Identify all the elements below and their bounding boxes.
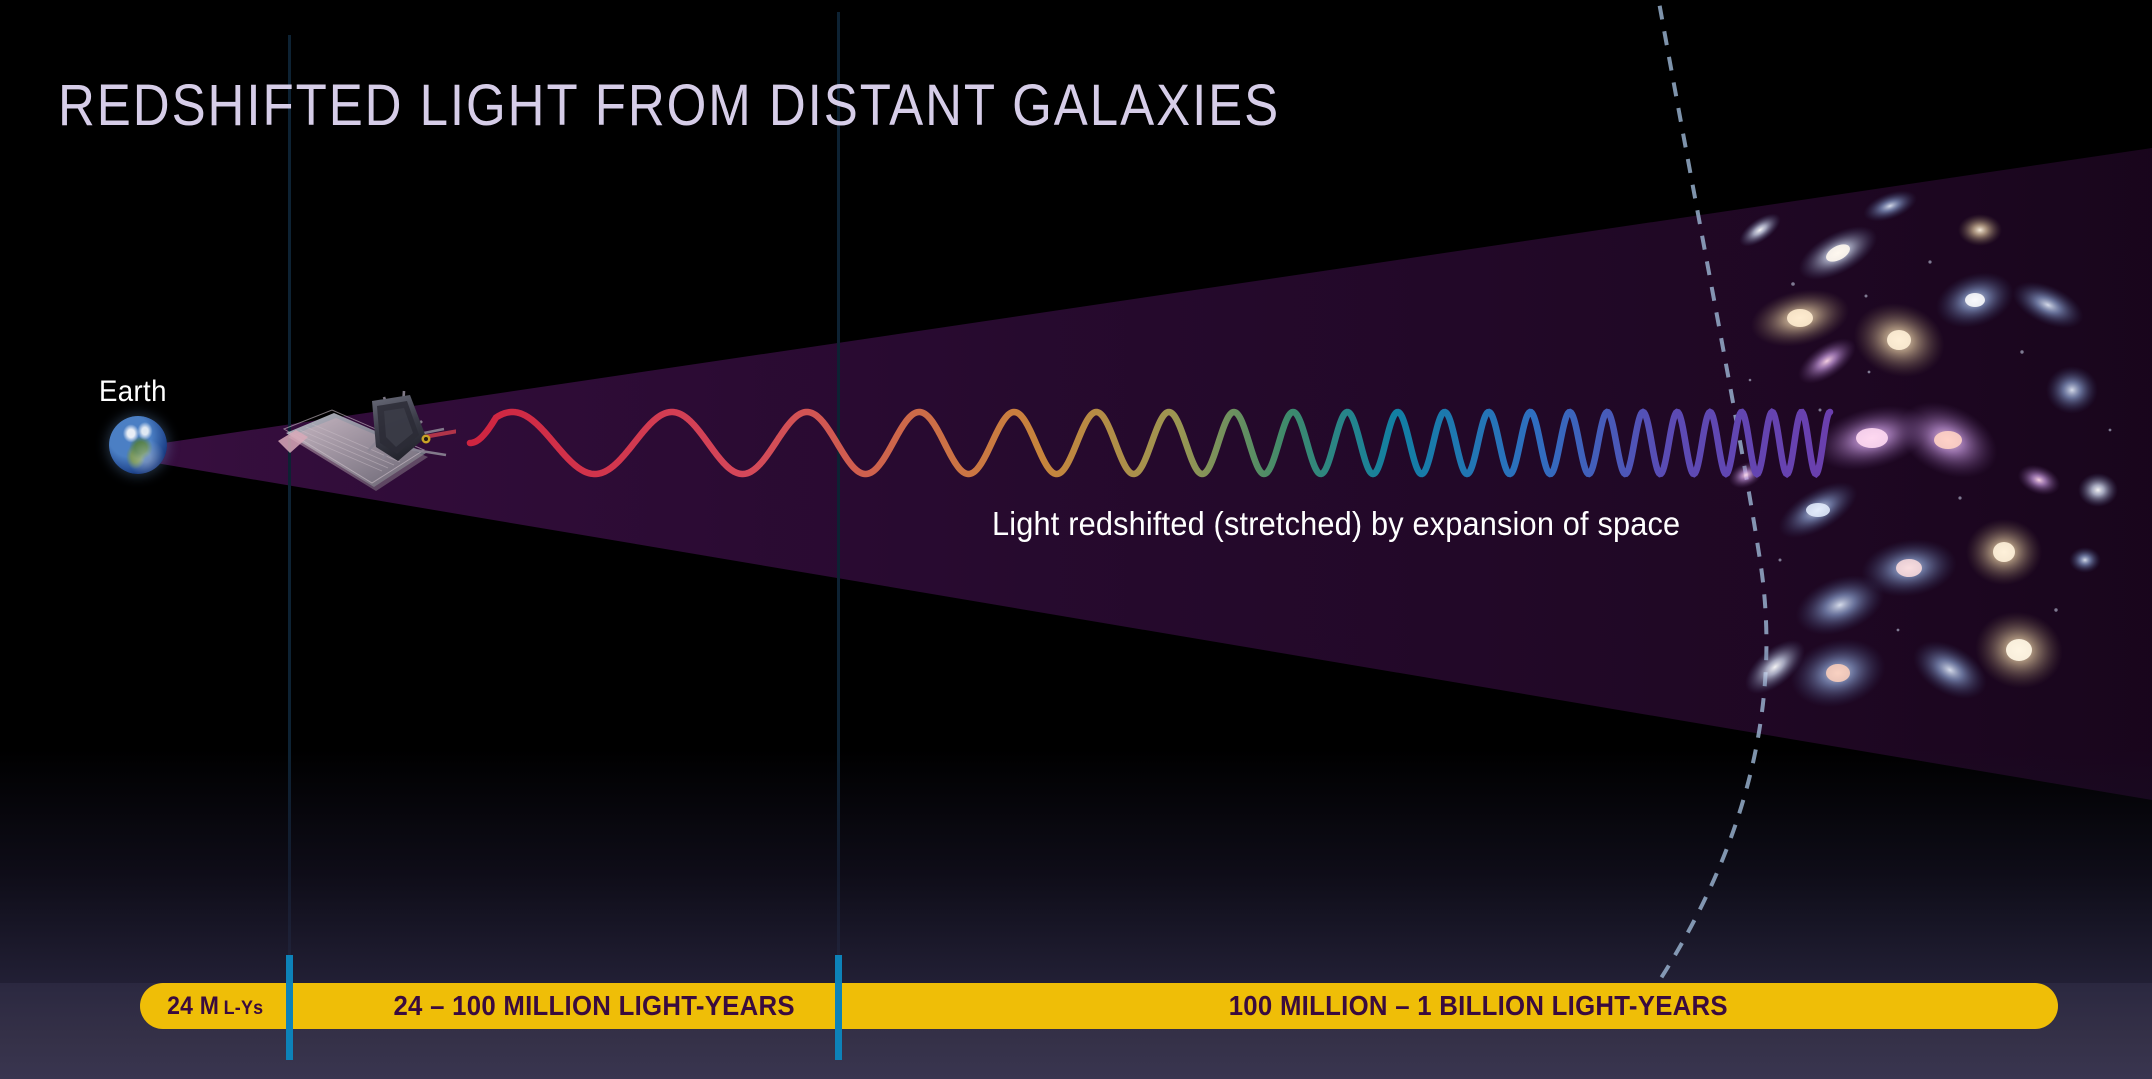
divider-100m-marker [835, 955, 842, 1060]
scale-segment-near-unit: L-Ys [223, 997, 263, 1019]
page-title: REDSHIFTED LIGHT FROM DISTANT GALAXIES [58, 72, 1280, 139]
earth-globe-icon [109, 416, 167, 474]
redshift-caption: Light redshifted (stretched) by expansio… [992, 505, 1680, 543]
scale-segment-near-value: 24 M [167, 992, 219, 1020]
divider-24m-marker [286, 955, 293, 1060]
scale-segment-far-value: 100 MILLION – 1 BILLION LIGHT-YEARS [1228, 990, 1727, 1022]
infographic-canvas: Earth Light redshifted (stretched) by ex… [0, 0, 2152, 1079]
jwst-telescope-icon [276, 375, 456, 515]
scale-segment-mid: 24 – 100 MILLION LIGHT-YEARS [290, 983, 898, 1029]
distance-scale-bar: 24 ML-Ys 24 – 100 MILLION LIGHT-YEARS 10… [140, 983, 2058, 1029]
earth-label: Earth [99, 375, 167, 409]
scale-segment-mid-value: 24 – 100 MILLION LIGHT-YEARS [393, 990, 794, 1022]
scale-segment-far: 100 MILLION – 1 BILLION LIGHT-YEARS [898, 983, 2058, 1029]
scale-segment-near: 24 ML-Ys [140, 983, 290, 1029]
